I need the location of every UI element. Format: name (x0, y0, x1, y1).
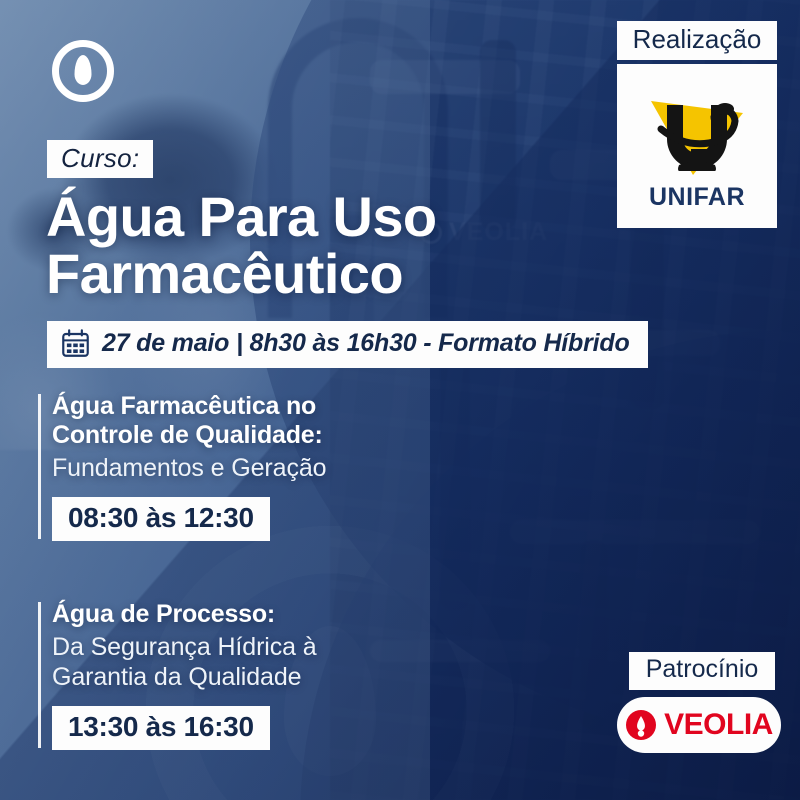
session-1-subtitle-line-1: Fundamentos e Geração (52, 454, 326, 482)
session-2-subtitle-line-1: Da Segurança Hídrica à (52, 633, 317, 661)
course-label-badge: Curso: (47, 140, 153, 178)
veolia-droplet-icon (625, 709, 657, 741)
organizer-label-badge: Realização (617, 21, 777, 60)
course-promo-poster: VEOLIA Curso: Água Para Uso Farmacêutico (0, 0, 800, 800)
session-2-time-badge: 13:30 às 16:30 (52, 706, 270, 750)
organizer-logo-card: UNIFAR (617, 64, 777, 228)
session-block-2: Água de Processo: Da Segurança Hídrica à… (30, 600, 317, 750)
water-drop-circle-icon (52, 40, 114, 102)
session-2-subtitle: Da Segurança Hídrica à Garantia da Quali… (52, 632, 317, 692)
session-1-subtitle: Fundamentos e Geração (52, 453, 326, 483)
session-1-time-badge: 08:30 às 12:30 (52, 497, 270, 541)
session-1-heading-line-2: Controle de Qualidade: (52, 421, 323, 449)
calendar-icon (61, 329, 90, 358)
event-date-text: 27 de maio | 8h30 às 16h30 - Formato Híb… (102, 329, 630, 358)
date-banner: 27 de maio | 8h30 às 16h30 - Formato Híb… (47, 321, 648, 368)
unifar-chalice-snake-icon (641, 83, 753, 183)
page-title-line-2: Farmacêutico (46, 245, 666, 302)
sponsor-name: VEOLIA (664, 710, 773, 740)
session-2-heading: Água de Processo: (52, 600, 317, 629)
session-1-heading: Água Farmacêutica no Controle de Qualida… (52, 392, 326, 450)
sponsor-logo-pill: VEOLIA (617, 697, 781, 753)
poster-content: Curso: Água Para Uso Farmacêutico 27 de … (0, 0, 800, 800)
sponsor-label-badge: Patrocínio (629, 652, 775, 690)
page-title-line-1: Água Para Uso (46, 185, 437, 248)
session-2-subtitle-line-2: Garantia da Qualidade (52, 663, 301, 691)
session-block-1: Água Farmacêutica no Controle de Qualida… (30, 392, 326, 541)
page-title: Água Para Uso Farmacêutico (46, 188, 666, 302)
organizer-name: UNIFAR (649, 185, 745, 210)
session-2-heading-line-1: Água de Processo: (52, 600, 275, 628)
session-1-heading-line-1: Água Farmacêutica no (52, 392, 316, 420)
